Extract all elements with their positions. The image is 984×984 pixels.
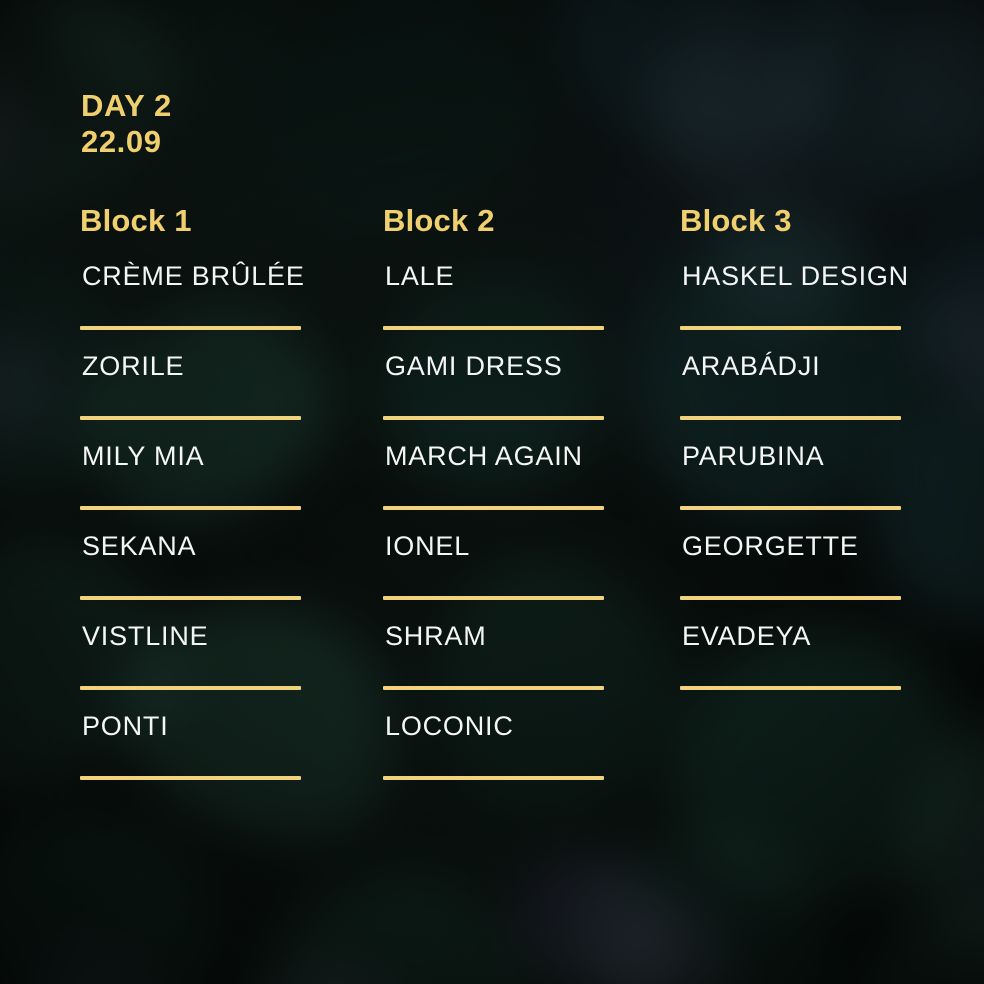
poster-content: DAY 2 22.09 Block 1 CRÈME BRÛLÉE ZORILE … [0, 0, 984, 984]
divider-rule [680, 686, 901, 690]
act-name: ARABÁDJI [682, 349, 820, 383]
date-label: 22.09 [81, 124, 172, 160]
list-item[interactable]: EVADEYA [680, 619, 902, 709]
act-name: LALE [385, 259, 454, 293]
act-name: SEKANA [82, 529, 196, 563]
divider-rule [680, 326, 901, 330]
lineup-poster: DAY 2 22.09 Block 1 CRÈME BRÛLÉE ZORILE … [0, 0, 984, 984]
list-item[interactable]: PONTI [80, 709, 302, 799]
act-name: MARCH AGAIN [385, 439, 583, 473]
block-title-3: Block 3 [680, 203, 902, 239]
list-item[interactable]: ARABÁDJI [680, 349, 902, 439]
act-name: PONTI [82, 709, 169, 743]
divider-rule [80, 416, 301, 420]
divider-rule [383, 506, 604, 510]
divider-rule [80, 506, 301, 510]
list-item[interactable]: GAMI DRESS [383, 349, 605, 439]
date-heading: DAY 2 22.09 [81, 88, 172, 160]
day-label: DAY 2 [81, 88, 172, 124]
lineup-column-block-3: Block 3 HASKEL DESIGN ARABÁDJI PARUBINA [680, 203, 902, 709]
act-name: EVADEYA [682, 619, 811, 653]
act-name: PARUBINA [682, 439, 824, 473]
list-item[interactable]: GEORGETTE [680, 529, 902, 619]
block-title-1: Block 1 [80, 203, 302, 239]
act-name: VISTLINE [82, 619, 208, 653]
divider-rule [383, 596, 604, 600]
divider-rule [680, 596, 901, 600]
act-list-block-3: HASKEL DESIGN ARABÁDJI PARUBINA GEORGETT… [680, 259, 902, 709]
list-item[interactable]: SEKANA [80, 529, 302, 619]
list-item[interactable]: CRÈME BRÛLÉE [80, 259, 302, 349]
divider-rule [80, 326, 301, 330]
list-item[interactable]: LALE [383, 259, 605, 349]
list-item[interactable]: MILY MIA [80, 439, 302, 529]
act-list-block-1: CRÈME BRÛLÉE ZORILE MILY MIA SEKANA [80, 259, 302, 799]
lineup-column-block-2: Block 2 LALE GAMI DRESS MARCH AGAIN [383, 203, 605, 799]
divider-rule [80, 596, 301, 600]
list-item[interactable]: IONEL [383, 529, 605, 619]
act-name: GAMI DRESS [385, 349, 563, 383]
list-item[interactable]: HASKEL DESIGN [680, 259, 902, 349]
act-name: ZORILE [82, 349, 184, 383]
divider-rule [383, 416, 604, 420]
divider-rule [383, 686, 604, 690]
divider-rule [80, 776, 301, 780]
act-name: HASKEL DESIGN [682, 259, 909, 293]
list-item[interactable]: MARCH AGAIN [383, 439, 605, 529]
divider-rule [383, 326, 604, 330]
act-name: CRÈME BRÛLÉE [82, 259, 305, 293]
divider-rule [383, 776, 604, 780]
list-item[interactable]: SHRAM [383, 619, 605, 709]
list-item[interactable]: VISTLINE [80, 619, 302, 709]
act-name: GEORGETTE [682, 529, 859, 563]
divider-rule [680, 506, 901, 510]
act-name: LOCONIC [385, 709, 514, 743]
divider-rule [680, 416, 901, 420]
act-name: MILY MIA [82, 439, 204, 473]
list-item[interactable]: PARUBINA [680, 439, 902, 529]
list-item[interactable]: ZORILE [80, 349, 302, 439]
act-name: IONEL [385, 529, 470, 563]
divider-rule [80, 686, 301, 690]
act-name: SHRAM [385, 619, 487, 653]
list-item[interactable]: LOCONIC [383, 709, 605, 799]
lineup-column-block-1: Block 1 CRÈME BRÛLÉE ZORILE MILY MIA [80, 203, 302, 799]
block-title-2: Block 2 [383, 203, 605, 239]
act-list-block-2: LALE GAMI DRESS MARCH AGAIN IONEL [383, 259, 605, 799]
